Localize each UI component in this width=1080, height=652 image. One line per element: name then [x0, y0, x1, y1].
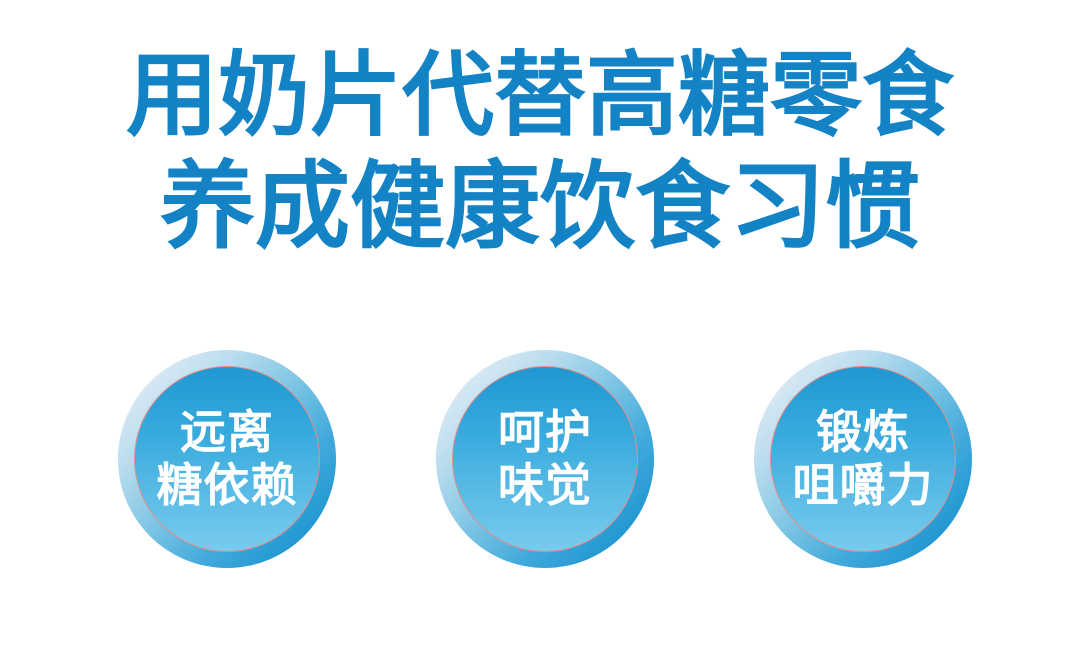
- benefit-badge-3-line-2: 咀嚼力: [793, 461, 934, 510]
- infographic-canvas: 用奶片代替高糖零食 养成健康饮食习惯 远离 糖依赖 呵护 味觉 锻炼 咀嚼力: [0, 0, 1080, 652]
- benefit-badge-2-line-2: 味觉: [498, 461, 592, 510]
- benefit-badge-1-line-1: 远离: [180, 408, 274, 457]
- benefit-badge-3[interactable]: 锻炼 咀嚼力: [754, 350, 972, 568]
- headline-line-1: 用奶片代替高糖零食: [0, 44, 1080, 148]
- benefit-badges-row: 远离 糖依赖 呵护 味觉 锻炼 咀嚼力: [0, 350, 1080, 570]
- benefit-badge-1-disc: 远离 糖依赖: [134, 366, 320, 552]
- benefit-badge-2[interactable]: 呵护 味觉: [436, 350, 654, 568]
- benefit-badge-1-line-2: 糖依赖: [157, 461, 298, 510]
- benefit-badge-1[interactable]: 远离 糖依赖: [118, 350, 336, 568]
- benefit-badge-2-line-1: 呵护: [498, 408, 592, 457]
- headline-block: 用奶片代替高糖零食 养成健康饮食习惯: [0, 44, 1080, 258]
- benefit-badge-3-disc: 锻炼 咀嚼力: [770, 366, 956, 552]
- benefit-badge-3-line-1: 锻炼: [816, 408, 910, 457]
- benefit-badge-2-disc: 呵护 味觉: [452, 366, 638, 552]
- headline-line-2: 养成健康饮食习惯: [0, 154, 1080, 258]
